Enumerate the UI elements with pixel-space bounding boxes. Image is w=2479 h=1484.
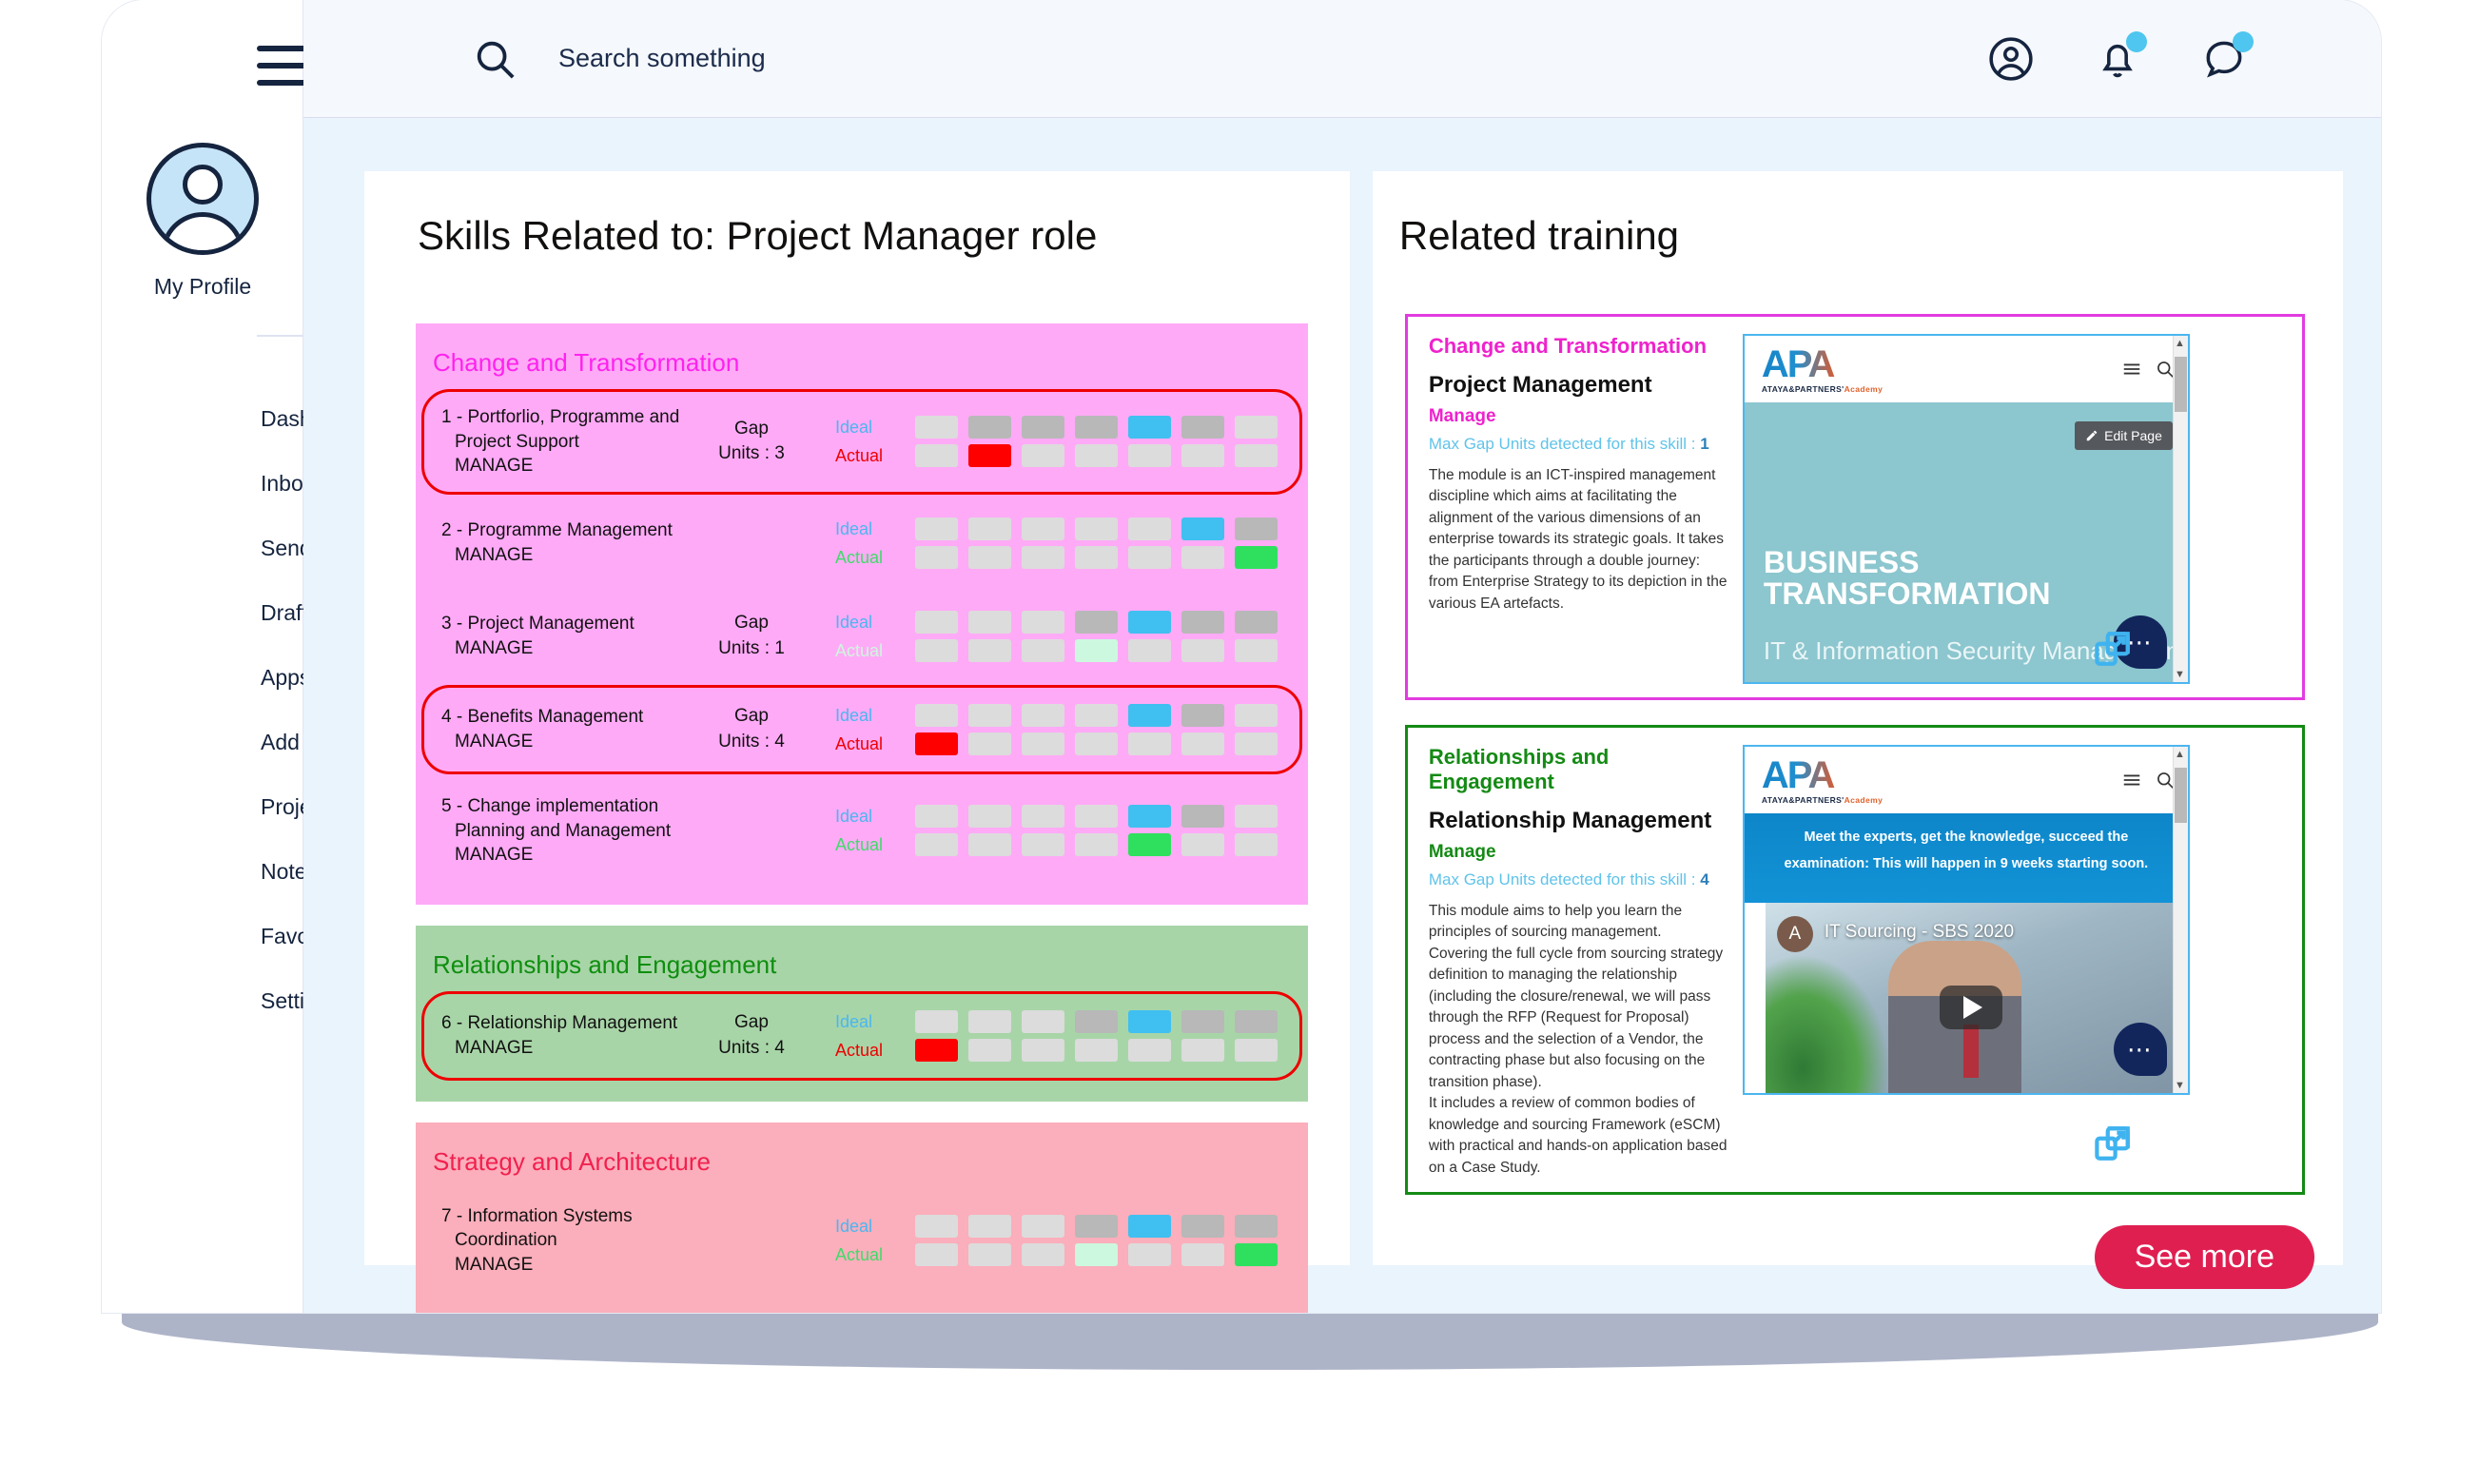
training-panel: Related training Change and Transformati… — [1373, 171, 2343, 1265]
actual-label: Actual — [835, 730, 915, 758]
rating-cell — [1022, 416, 1064, 439]
skill-row[interactable]: 7 - Information Systems CoordinationMANA… — [421, 1188, 1302, 1294]
ideal-label: Ideal — [835, 1007, 915, 1036]
apa-logo: APAATAYA&PARTNERS'Academy — [1762, 756, 1883, 805]
rating-cell — [1022, 611, 1064, 634]
skill-groups: Change and Transformation1 - Portforlio,… — [364, 259, 1350, 1313]
chat-badge — [2233, 31, 2254, 52]
bell-badge — [2126, 31, 2147, 52]
rating-cell — [968, 546, 1011, 569]
rating-cell — [1181, 639, 1224, 662]
skill-level: MANAGE — [455, 545, 533, 565]
see-more-wrap: See more — [1373, 1220, 2343, 1289]
actual-label: Actual — [835, 1036, 915, 1064]
rating-cell — [1235, 546, 1278, 569]
rating-cell — [1022, 732, 1064, 755]
scroll-down-icon[interactable]: ▼ — [2175, 1080, 2185, 1091]
preview-banner-text: Meet the experts, get the knowledge, suc… — [1762, 825, 2171, 877]
laptop-base — [122, 1313, 2378, 1370]
rating-cell — [1022, 1215, 1064, 1238]
rating-cell — [968, 1243, 1011, 1266]
rating-cell — [1022, 639, 1064, 662]
rating-cell — [1022, 546, 1064, 569]
rating-cell — [1128, 704, 1171, 727]
rating-cell — [1235, 517, 1278, 540]
rating-cell — [1181, 444, 1224, 467]
topbar — [303, 0, 2381, 118]
hamburger-icon[interactable] — [2121, 359, 2142, 380]
ideal-label: Ideal — [835, 802, 915, 830]
training-category: Relationships and Engagement — [1429, 745, 1727, 794]
apa-logo-subtitle: ATAYA&PARTNERS'Academy — [1762, 796, 1883, 805]
search-input[interactable] — [558, 44, 1224, 73]
skill-name: 3 - Project ManagementMANAGE — [438, 612, 694, 660]
rating-cell — [1075, 1215, 1118, 1238]
rating-cell — [915, 444, 958, 467]
rating-cells — [915, 805, 1278, 856]
rating-cell — [1128, 805, 1171, 828]
skill-rating: IdealActual — [835, 515, 1278, 572]
rating-cell — [1181, 611, 1224, 634]
skill-name: 1 - Portforlio, Programme and Project Su… — [438, 405, 694, 478]
skill-group-title: Change and Transformation — [416, 333, 1308, 385]
scroll-up-icon[interactable]: ▲ — [2175, 749, 2185, 760]
rating-cell — [1181, 1039, 1224, 1062]
rating-labels: IdealActual — [835, 802, 915, 859]
sidebar-item-add-ons[interactable]: Add ons — [102, 710, 303, 774]
rating-cell — [1075, 1039, 1118, 1062]
training-preview[interactable]: APAATAYA&PARTNERS'AcademyEdit PageBUSINE… — [1743, 334, 2190, 684]
preview-header: APAATAYA&PARTNERS'Academy — [1745, 747, 2188, 813]
rating-cell — [1075, 444, 1118, 467]
actual-cell-row — [915, 1243, 1278, 1266]
rating-cell — [1128, 1215, 1171, 1238]
skill-group-title: Relationships and Engagement — [416, 935, 1308, 987]
skill-name: 5 - Change implementation Planning and M… — [438, 794, 694, 868]
skill-gap: GapUnits : 4 — [694, 1010, 809, 1061]
rating-cells — [915, 704, 1278, 755]
skill-rating: IdealActual — [835, 701, 1278, 758]
rating-cell — [1128, 611, 1171, 634]
rating-cell — [1181, 1243, 1224, 1266]
rating-cell — [1235, 611, 1278, 634]
avatar[interactable] — [102, 143, 303, 260]
skill-row[interactable]: 4 - Benefits ManagementMANAGEGapUnits : … — [421, 685, 1302, 774]
profile-label: My Profile — [102, 274, 303, 300]
actual-cell-row — [915, 444, 1278, 467]
user-avatar-icon — [146, 143, 259, 255]
rating-cells — [915, 611, 1278, 662]
rating-labels: IdealActual — [835, 608, 915, 665]
video-tie — [1963, 1025, 1979, 1078]
training-level: Manage — [1429, 406, 1727, 427]
scroll-thumb[interactable] — [2175, 768, 2187, 823]
see-more-button[interactable]: See more — [2095, 1225, 2314, 1289]
ideal-label: Ideal — [835, 413, 915, 441]
skill-level: MANAGE — [455, 1038, 533, 1058]
training-card-info: Relationships and EngagementRelationship… — [1429, 745, 1743, 1179]
training-gap-value: 1 — [1700, 435, 1708, 453]
training-preview[interactable]: APAATAYA&PARTNERS'AcademyMeet the expert… — [1743, 745, 2190, 1179]
rating-cell — [968, 416, 1011, 439]
training-card-info: Change and TransformationProject Managem… — [1429, 334, 1743, 684]
rating-cell — [1075, 517, 1118, 540]
rating-labels: IdealActual — [835, 515, 915, 572]
rating-cell — [1075, 546, 1118, 569]
avatar-body — [161, 212, 244, 255]
actual-cell-row — [915, 546, 1278, 569]
ideal-label: Ideal — [835, 515, 915, 543]
actual-label: Actual — [835, 1240, 915, 1269]
rating-cell — [1181, 546, 1224, 569]
actual-cell-row — [915, 639, 1278, 662]
bell-icon[interactable] — [2094, 35, 2141, 83]
rating-cell — [1181, 517, 1224, 540]
preview-banner: Meet the experts, get the knowledge, suc… — [1745, 813, 2188, 903]
skill-name: 2 - Programme ManagementMANAGE — [438, 518, 694, 567]
sidebar-item-send[interactable]: Send — [102, 516, 303, 580]
rating-cell — [1075, 704, 1118, 727]
rating-cell — [915, 833, 958, 856]
hamburger-icon[interactable] — [2121, 770, 2142, 791]
rating-cell — [1181, 732, 1224, 755]
rating-cell — [915, 639, 958, 662]
rating-cell — [1022, 1039, 1064, 1062]
skill-label: 2 - Programme Management — [441, 520, 673, 540]
sidebar-item-project[interactable]: Project — [102, 774, 303, 839]
skill-label: 5 - Change implementation Planning and M… — [441, 796, 671, 841]
apa-logo-word: APA — [1762, 756, 1883, 794]
rating-cell — [968, 444, 1011, 467]
rating-cell — [1128, 1010, 1171, 1033]
rating-labels: IdealActual — [835, 1007, 915, 1064]
rating-cell — [915, 546, 958, 569]
rating-cell — [968, 1215, 1011, 1238]
ideal-cell-row — [915, 1010, 1278, 1033]
rating-cell — [1022, 1243, 1064, 1266]
skill-gap: GapUnits : 4 — [694, 704, 809, 754]
training-level: Manage — [1429, 842, 1727, 863]
training-card[interactable]: Change and TransformationProject Managem… — [1405, 314, 2305, 700]
rating-cells — [915, 416, 1278, 467]
ideal-cell-row — [915, 805, 1278, 828]
edit-page-button[interactable]: Edit Page — [2075, 421, 2173, 450]
rating-cell — [1075, 805, 1118, 828]
rating-cell — [1022, 517, 1064, 540]
apa-logo-accent: Academy — [1845, 795, 1884, 805]
rating-cell — [1235, 732, 1278, 755]
rating-labels: IdealActual — [835, 413, 915, 470]
preview-video[interactable]: AIT Sourcing - SBS 2020 — [1766, 903, 2176, 1095]
training-description: This module aims to help you learn the p… — [1429, 901, 1727, 1179]
rating-cell — [1235, 1039, 1278, 1062]
skill-gap: GapUnits : 1 — [694, 611, 809, 661]
rating-cell — [1235, 1215, 1278, 1238]
rating-cells — [915, 1010, 1278, 1062]
scroll-thumb[interactable] — [2175, 357, 2187, 412]
sidebar-item-draft[interactable]: Draft — [102, 580, 303, 645]
sidebar: My Profile DashboardInboxSendDraftAppsAd… — [102, 0, 303, 1313]
training-category: Change and Transformation — [1429, 334, 1727, 359]
training-card-list: Change and TransformationProject Managem… — [1373, 259, 2343, 1195]
ideal-label: Ideal — [835, 1212, 915, 1240]
video-plant — [1766, 954, 1889, 1095]
ideal-cell-row — [915, 611, 1278, 634]
topbar-icon-group — [1987, 35, 2248, 83]
rating-cell — [1075, 732, 1118, 755]
training-title: Project Management — [1429, 372, 1727, 399]
ideal-label: Ideal — [835, 701, 915, 730]
rating-cell — [1181, 704, 1224, 727]
rating-labels: IdealActual — [835, 1212, 915, 1269]
rating-cell — [1181, 833, 1224, 856]
actual-label: Actual — [835, 543, 915, 572]
rating-cell — [1022, 1010, 1064, 1033]
actual-cell-row — [915, 732, 1278, 755]
skill-name: 7 - Information Systems CoordinationMANA… — [438, 1204, 694, 1278]
rating-cell — [915, 611, 958, 634]
preview-scrollbar[interactable]: ▲▼ — [2173, 747, 2188, 1093]
rating-cell — [915, 704, 958, 727]
apa-logo: APAATAYA&PARTNERS'Academy — [1762, 345, 1883, 394]
rating-cell — [1181, 416, 1224, 439]
rating-cell — [1128, 1039, 1171, 1062]
rating-cell — [1128, 732, 1171, 755]
ideal-cell-row — [915, 517, 1278, 540]
rating-labels: IdealActual — [835, 701, 915, 758]
training-title: Relationship Management — [1429, 808, 1727, 834]
rating-cells — [915, 517, 1278, 569]
skill-level: MANAGE — [455, 456, 533, 476]
ideal-cell-row — [915, 416, 1278, 439]
skill-rating: IdealActual — [835, 413, 1278, 470]
rating-cell — [968, 1010, 1011, 1033]
preview-header-icons — [2121, 770, 2175, 791]
actual-label: Actual — [835, 441, 915, 470]
skill-label: 7 - Information Systems Coordination — [441, 1206, 633, 1251]
sidebar-item-notes[interactable]: Notes — [102, 839, 303, 904]
rating-cell — [915, 805, 958, 828]
actual-cell-row — [915, 1039, 1278, 1062]
edit-page-label: Edit Page — [2104, 428, 2162, 443]
rating-cell — [968, 611, 1011, 634]
skill-label: 1 - Portforlio, Programme and Project Su… — [441, 407, 679, 452]
rating-cell — [1235, 444, 1278, 467]
rating-cell — [915, 1039, 958, 1062]
skill-row[interactable]: 1 - Portforlio, Programme and Project Su… — [421, 389, 1302, 495]
rating-cell — [968, 639, 1011, 662]
training-description: The module is an ICT-inspired management… — [1429, 465, 1727, 615]
sidebar-item-dashboard[interactable]: Dashboard — [102, 386, 303, 451]
page-body: Skills Related to: Project Manager role … — [303, 118, 2381, 1313]
sidebar-item-inbox[interactable]: Inbox — [102, 451, 303, 516]
skill-group-title: Strategy and Architecture — [416, 1132, 1308, 1184]
search-icon[interactable] — [2156, 771, 2175, 790]
search-icon[interactable] — [473, 37, 517, 81]
ideal-label: Ideal — [835, 608, 915, 636]
ideal-cell-row — [915, 1215, 1278, 1238]
rating-cell — [1075, 1243, 1118, 1266]
chat-dots-icon[interactable]: ⋯ — [2114, 1023, 2167, 1076]
rating-cell — [1022, 704, 1064, 727]
open-in-new-icon[interactable] — [2093, 1123, 2133, 1163]
rating-cell — [1128, 1243, 1171, 1266]
training-gap: Max Gap Units detected for this skill : … — [1429, 435, 1727, 454]
training-title: Related training — [1373, 213, 2343, 259]
apa-logo-word: APA — [1762, 345, 1883, 383]
preview-browser: APAATAYA&PARTNERS'AcademyMeet the expert… — [1743, 745, 2190, 1095]
rating-cell — [1235, 704, 1278, 727]
skill-label: 3 - Project Management — [441, 614, 634, 634]
training-card[interactable]: Relationships and EngagementRelationship… — [1405, 725, 2305, 1195]
skill-rating: IdealActual — [835, 608, 1278, 665]
rating-cell — [1075, 833, 1118, 856]
rating-cell — [915, 517, 958, 540]
training-gap-value: 4 — [1700, 870, 1708, 888]
rating-cell — [1075, 611, 1118, 634]
edit-icon — [2085, 429, 2098, 442]
sidebar-item-favorit[interactable]: Favorit — [102, 904, 303, 968]
avatar-head — [183, 165, 223, 205]
rating-cell — [1181, 805, 1224, 828]
rating-cell — [1022, 805, 1064, 828]
rating-cell — [968, 704, 1011, 727]
rating-cell — [915, 1010, 958, 1033]
skill-level: MANAGE — [455, 732, 533, 752]
skill-label: 4 - Benefits Management — [441, 707, 643, 727]
skill-group: Strategy and Architecture7 - Information… — [416, 1123, 1308, 1313]
skill-level: MANAGE — [455, 1255, 533, 1275]
apa-logo-subtitle: ATAYA&PARTNERS'Academy — [1762, 385, 1883, 394]
preview-header-icons — [2121, 359, 2175, 380]
skill-row[interactable]: 5 - Change implementation Planning and M… — [421, 778, 1302, 884]
sidebar-item-apps[interactable]: Apps — [102, 645, 303, 710]
skill-row[interactable]: 3 - Project ManagementMANAGEGapUnits : 1… — [421, 592, 1302, 681]
skill-level: MANAGE — [455, 638, 533, 658]
rating-cell — [1181, 1010, 1224, 1033]
play-icon[interactable] — [1940, 986, 2002, 1029]
skill-gap: GapUnits : 3 — [694, 417, 809, 467]
scroll-up-icon[interactable]: ▲ — [2175, 338, 2185, 349]
rating-cell — [968, 732, 1011, 755]
rating-cell — [915, 416, 958, 439]
rating-cell — [1235, 1243, 1278, 1266]
rating-cell — [1128, 546, 1171, 569]
skill-rating: IdealActual — [835, 1212, 1278, 1269]
actual-label: Actual — [835, 830, 915, 859]
rating-cell — [1128, 833, 1171, 856]
rating-cell — [1235, 805, 1278, 828]
apa-logo-accent: Academy — [1845, 384, 1884, 394]
page-title: Skills Related to: Project Manager role — [364, 213, 1350, 259]
rating-cell — [1235, 639, 1278, 662]
skill-group: Relationships and Engagement6 - Relation… — [416, 926, 1308, 1102]
rating-cell — [1235, 1010, 1278, 1033]
rating-cell — [1181, 1215, 1224, 1238]
skill-name: 4 - Benefits ManagementMANAGE — [438, 705, 694, 753]
skill-rating: IdealActual — [835, 1007, 1278, 1064]
screenshot-root: My Profile DashboardInboxSendDraftAppsAd… — [0, 0, 2479, 1484]
panels: Skills Related to: Project Manager role … — [303, 118, 2381, 1265]
skills-panel: Skills Related to: Project Manager role … — [364, 171, 1350, 1265]
skill-group: Change and Transformation1 - Portforlio,… — [416, 323, 1308, 905]
laptop-screen: My Profile DashboardInboxSendDraftAppsAd… — [102, 0, 2381, 1313]
preview-header: APAATAYA&PARTNERS'Academy — [1745, 336, 2188, 402]
rating-cell — [1235, 833, 1278, 856]
rating-cell — [1022, 833, 1064, 856]
preview-hero-title: BUSINESSTRANSFORMATION — [1764, 547, 2051, 611]
actual-cell-row — [915, 833, 1278, 856]
skill-label: 6 - Relationship Management — [441, 1013, 677, 1033]
rating-cell — [915, 1215, 958, 1238]
rating-cell — [1128, 444, 1171, 467]
ideal-cell-row — [915, 704, 1278, 727]
rating-cell — [968, 833, 1011, 856]
skill-rating: IdealActual — [835, 802, 1278, 859]
rating-cell — [1235, 416, 1278, 439]
search-icon[interactable] — [2156, 360, 2175, 379]
rating-cell — [1075, 416, 1118, 439]
rating-cell — [915, 1243, 958, 1266]
rating-cells — [915, 1215, 1278, 1266]
open-in-new-icon[interactable] — [2093, 629, 2133, 669]
training-gap: Max Gap Units detected for this skill : … — [1429, 870, 1727, 889]
skill-level: MANAGE — [455, 845, 533, 865]
rating-cell — [968, 1039, 1011, 1062]
rating-cell — [1075, 1010, 1118, 1033]
skill-row[interactable]: 2 - Programme ManagementMANAGEIdealActua… — [421, 498, 1302, 588]
video-channel-avatar: A — [1777, 916, 1813, 952]
rating-cell — [1128, 416, 1171, 439]
sidebar-item-setting[interactable]: Setting — [102, 968, 303, 1033]
sidebar-nav: DashboardInboxSendDraftAppsAdd onsProjec… — [102, 386, 303, 1033]
rating-cell — [1128, 639, 1171, 662]
rating-cell — [968, 805, 1011, 828]
skill-name: 6 - Relationship ManagementMANAGE — [438, 1011, 694, 1060]
scroll-down-icon[interactable]: ▼ — [2175, 669, 2185, 680]
rating-cell — [968, 517, 1011, 540]
rating-cell — [1022, 444, 1064, 467]
skill-row[interactable]: 6 - Relationship ManagementMANAGEGapUnit… — [421, 991, 1302, 1081]
chat-icon[interactable] — [2200, 35, 2248, 83]
video-title: IT Sourcing - SBS 2020 — [1825, 922, 2014, 943]
rating-cell — [1075, 639, 1118, 662]
actual-label: Actual — [835, 636, 915, 665]
preview-scrollbar[interactable]: ▲▼ — [2173, 336, 2188, 682]
account-circle-icon[interactable] — [1987, 35, 2035, 83]
rating-cell — [1128, 517, 1171, 540]
rating-cell — [915, 732, 958, 755]
